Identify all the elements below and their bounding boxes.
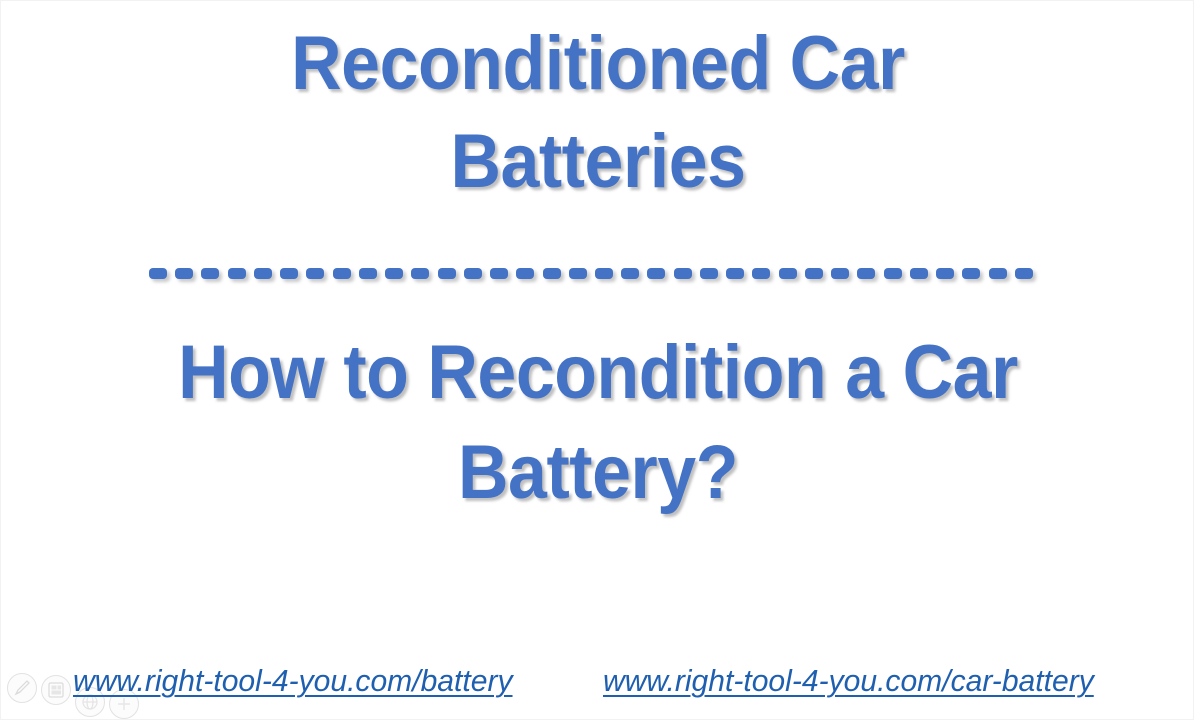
divider-dash xyxy=(621,268,639,279)
divider-dash xyxy=(936,268,954,279)
divider-dash xyxy=(385,268,403,279)
divider-dash xyxy=(464,268,482,279)
divider-dash xyxy=(306,268,324,279)
divider-dash xyxy=(201,268,219,279)
footer-links: www.right-tool-4-you.com/battery www.rig… xyxy=(1,659,1194,709)
divider-dash xyxy=(149,268,167,279)
divider-dash xyxy=(280,268,298,279)
divider-dash xyxy=(438,268,456,279)
divider-dash xyxy=(411,268,429,279)
divider-dash xyxy=(831,268,849,279)
divider-dash xyxy=(910,268,928,279)
slide-canvas: Reconditioned Car Batteries How to Recon… xyxy=(0,0,1194,720)
footer-link-car-battery[interactable]: www.right-tool-4-you.com/car-battery xyxy=(603,659,1094,703)
slide-title: Reconditioned Car Batteries xyxy=(1,15,1194,211)
divider-dash xyxy=(1015,268,1033,279)
divider-dash xyxy=(857,268,875,279)
title-line-2: Batteries xyxy=(49,113,1147,211)
divider-dash xyxy=(543,268,561,279)
divider-dash xyxy=(962,268,980,279)
divider-dash xyxy=(726,268,744,279)
divider-dash xyxy=(359,268,377,279)
divider-dash xyxy=(516,268,534,279)
divider-dash xyxy=(333,268,351,279)
divider-dash xyxy=(175,268,193,279)
divider-dash xyxy=(989,268,1007,279)
divider-dash xyxy=(884,268,902,279)
divider-dash xyxy=(254,268,272,279)
divider-dash xyxy=(752,268,770,279)
slide-subtitle: How to Recondition a Car Battery? xyxy=(1,323,1194,523)
divider-dash xyxy=(595,268,613,279)
divider-dash xyxy=(647,268,665,279)
divider-dash xyxy=(490,268,508,279)
subtitle-line-2: Battery? xyxy=(49,423,1147,523)
divider-dash xyxy=(569,268,587,279)
divider-dash xyxy=(700,268,718,279)
divider-dash xyxy=(779,268,797,279)
divider-dash xyxy=(228,268,246,279)
divider-dash xyxy=(674,268,692,279)
subtitle-line-1: How to Recondition a Car xyxy=(49,323,1147,423)
dashed-divider xyxy=(149,259,1033,287)
title-line-1: Reconditioned Car xyxy=(49,15,1147,113)
divider-dash xyxy=(805,268,823,279)
footer-link-battery[interactable]: www.right-tool-4-you.com/battery xyxy=(73,659,513,703)
